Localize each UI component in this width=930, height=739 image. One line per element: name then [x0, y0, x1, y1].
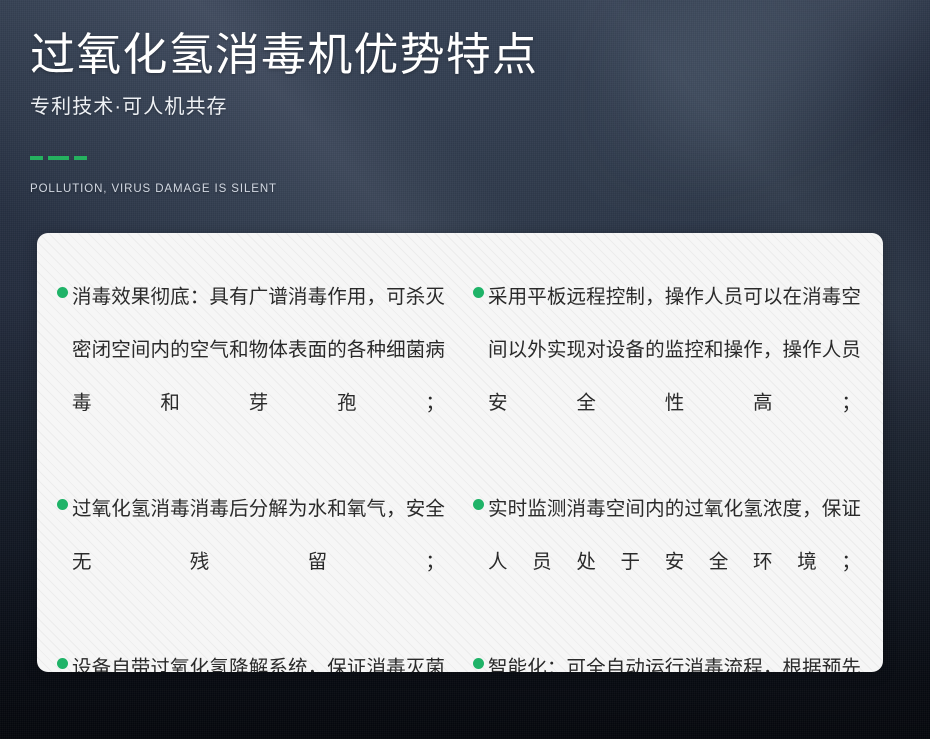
list-item: 智能化：可全自动运行消毒流程，根据预先设定，自动模式运行整个消毒过程，全程无需人… — [473, 642, 861, 672]
accent-dashes — [30, 156, 670, 160]
bullet-dot-icon — [57, 658, 68, 669]
page-header: 过氧化氢消毒机优势特点 专利技术·可人机共存 POLLUTION, VIRUS … — [30, 30, 670, 195]
bullet-dot-icon — [473, 499, 484, 510]
accent-dash-2 — [48, 156, 69, 160]
page-title: 过氧化氢消毒机优势特点 — [30, 30, 670, 81]
features-card: 消毒效果彻底：具有广谱消毒作用，可杀灭密闭空间内的空气和物体表面的各种细菌病毒和… — [37, 233, 883, 672]
accent-dash-3 — [74, 156, 87, 160]
list-item: 过氧化氢消毒消毒后分解为水和氧气，安全无残留； — [57, 483, 445, 642]
features-column-right: 采用平板远程控制，操作人员可以在消毒空间以外实现对设备的监控和操作，操作人员安全… — [459, 271, 861, 672]
bullet-dot-icon — [57, 499, 68, 510]
list-item-text: 设备自带过氧化氢降解系统，保证消毒灭菌后，消毒空间环境中过氧化氢浓度控制在1pp… — [72, 642, 445, 672]
list-item-text: 采用平板远程控制，操作人员可以在消毒空间以外实现对设备的监控和操作，操作人员安全… — [488, 271, 861, 483]
list-item: 设备自带过氧化氢降解系统，保证消毒灭菌后，消毒空间环境中过氧化氢浓度控制在1pp… — [57, 642, 445, 672]
bullet-dot-icon — [473, 658, 484, 669]
accent-dash-1 — [30, 156, 43, 160]
list-item-text: 过氧化氢消毒消毒后分解为水和氧气，安全无残留； — [72, 483, 445, 642]
list-item-text: 实时监测消毒空间内的过氧化氢浓度，保证人员处于安全环境； — [488, 483, 861, 642]
page-subtitle: 专利技术·可人机共存 — [30, 94, 670, 120]
features-card-inner: 消毒效果彻底：具有广谱消毒作用，可杀灭密闭空间内的空气和物体表面的各种细菌病毒和… — [37, 233, 883, 672]
bullet-dot-icon — [473, 287, 484, 298]
page-background: 过氧化氢消毒机优势特点 专利技术·可人机共存 POLLUTION, VIRUS … — [0, 0, 930, 739]
bullet-dot-icon — [57, 287, 68, 298]
list-item-text: 消毒效果彻底：具有广谱消毒作用，可杀灭密闭空间内的空气和物体表面的各种细菌病毒和… — [72, 271, 445, 483]
list-item-text: 智能化：可全自动运行消毒流程，根据预先设定，自动模式运行整个消毒过程，全程无需人… — [488, 642, 861, 672]
list-item: 实时监测消毒空间内的过氧化氢浓度，保证人员处于安全环境； — [473, 483, 861, 642]
features-column-left: 消毒效果彻底：具有广谱消毒作用，可杀灭密闭空间内的空气和物体表面的各种细菌病毒和… — [57, 271, 459, 672]
list-item: 消毒效果彻底：具有广谱消毒作用，可杀灭密闭空间内的空气和物体表面的各种细菌病毒和… — [57, 271, 445, 483]
english-tagline: POLLUTION, VIRUS DAMAGE IS SILENT — [30, 183, 670, 195]
list-item: 采用平板远程控制，操作人员可以在消毒空间以外实现对设备的监控和操作，操作人员安全… — [473, 271, 861, 483]
